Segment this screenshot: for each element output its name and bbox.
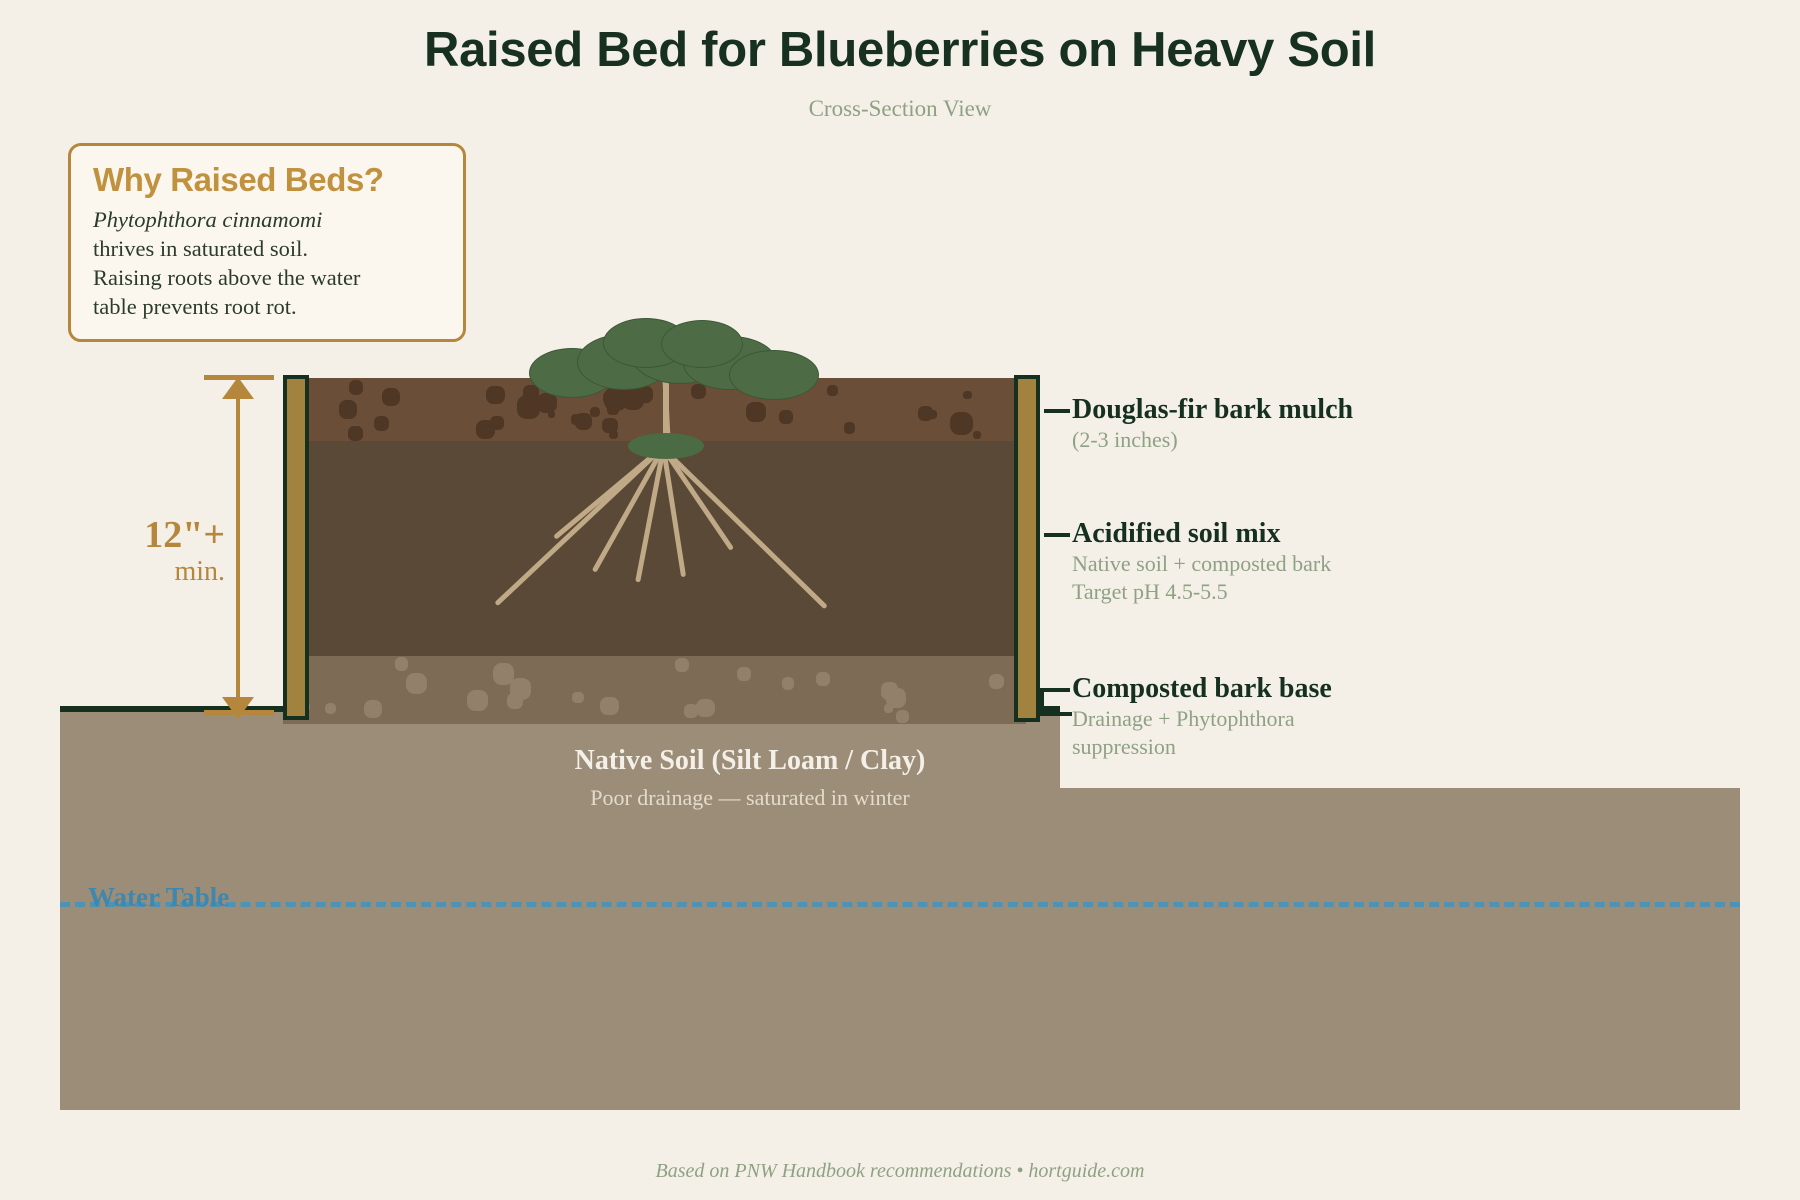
label-soil-mix-title: Acidified soil mix — [1072, 518, 1331, 550]
callout-line-3: Raising roots above the water — [93, 263, 443, 292]
label-mulch-title: Douglas-fir bark mulch — [1072, 394, 1353, 426]
canopy-leaf — [729, 350, 819, 400]
dimension-arrow-up-icon — [222, 377, 254, 399]
water-table-label: Water Table — [88, 882, 229, 913]
root-branch — [495, 444, 666, 606]
water-table-line — [60, 902, 1740, 907]
leader-line-soil-mix — [1044, 533, 1070, 537]
page-subtitle: Cross-Section View — [0, 96, 1800, 122]
leader-line-bark-base — [1044, 688, 1070, 692]
page-title: Raised Bed for Blueberries on Heavy Soil — [0, 22, 1800, 78]
root-crown — [628, 433, 704, 459]
dimension-line — [236, 392, 240, 704]
native-soil-subtitle: Poor drainage — saturated in winter — [180, 785, 1320, 811]
dimension-note: min. — [60, 556, 225, 588]
why-raised-beds-callout: Why Raised Beds? Phytophthora cinnamomi … — [68, 143, 466, 342]
label-bark-base: Composted bark base Drainage + Phytophth… — [1072, 673, 1332, 761]
leader-foot-bark-base — [1040, 712, 1072, 716]
callout-line-2: thrives in saturated soil. — [93, 234, 443, 263]
label-bark-base-title: Composted bark base — [1072, 673, 1332, 705]
dimension-value: 12"+ — [60, 513, 225, 557]
callout-title: Why Raised Beds? — [93, 161, 443, 199]
label-soil-mix-sub2: Target pH 4.5-5.5 — [1072, 578, 1331, 606]
footer-credit: Based on PNW Handbook recommendations • … — [0, 1160, 1800, 1183]
callout-line-species: Phytophthora cinnamomi — [93, 205, 443, 234]
label-soil-mix-sub1: Native soil + composted bark — [1072, 550, 1331, 578]
callout-line-4: table prevents root rot. — [93, 292, 443, 321]
label-mulch-sub1: (2-3 inches) — [1072, 426, 1353, 454]
canopy-leaf — [661, 320, 743, 368]
label-bark-base-sub2: suppression — [1072, 733, 1332, 761]
label-mulch: Douglas-fir bark mulch (2-3 inches) — [1072, 394, 1353, 454]
root-branch — [592, 446, 666, 573]
dimension-arrow-down-icon — [222, 697, 254, 719]
bed-board-right — [1014, 375, 1040, 722]
diagram-canvas: Raised Bed for Blueberries on Heavy Soil… — [0, 0, 1800, 1200]
bed-board-left — [283, 375, 309, 720]
blueberry-plant — [283, 330, 1026, 730]
label-soil-mix: Acidified soil mix Native soil + compost… — [1072, 518, 1331, 606]
root-branch — [663, 448, 828, 610]
leader-line-mulch — [1044, 409, 1070, 413]
label-bark-base-sub1: Drainage + Phytophthora — [1072, 705, 1332, 733]
